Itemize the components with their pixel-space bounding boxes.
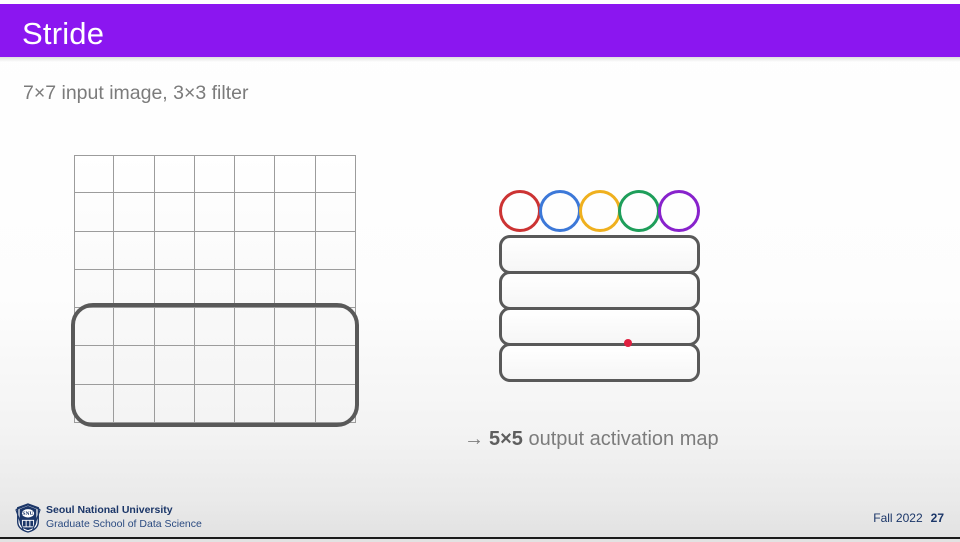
footer-university-name: Seoul National University (46, 503, 202, 517)
grid-cell (74, 346, 114, 384)
slide-footer: SNU Seoul National University Graduate S… (0, 498, 960, 542)
grid-cell (195, 270, 235, 308)
activation-ring-row (499, 190, 700, 236)
activation-ring (658, 190, 700, 232)
grid-cell (235, 346, 275, 384)
activation-ring (579, 190, 621, 232)
footer-term: Fall 2022 (873, 511, 922, 525)
grid-cell (195, 385, 235, 423)
grid-cell (316, 193, 356, 231)
grid-cell (195, 346, 235, 384)
grid-cell (316, 385, 356, 423)
grid-cell (74, 155, 114, 193)
grid-cell (195, 308, 235, 346)
grid-cell (235, 155, 275, 193)
page-title: Stride (22, 15, 104, 53)
grid-cell (235, 232, 275, 270)
grid-cell (275, 308, 315, 346)
grid-cell (74, 308, 114, 346)
footer-page-number: 27 (931, 511, 944, 525)
grid-cell (155, 385, 195, 423)
grid-cell (114, 232, 154, 270)
grid-cell (316, 270, 356, 308)
grid-cell (275, 346, 315, 384)
output-row-1 (499, 235, 700, 274)
slide-title-bar: Stride (0, 4, 960, 57)
grid-cell (114, 308, 154, 346)
output-row-2 (499, 271, 700, 310)
footer-department-name: Graduate School of Data Science (46, 517, 202, 531)
grid-cell (195, 193, 235, 231)
grid-cell (275, 155, 315, 193)
subtitle-text: 7×7 input image, 3×3 filter (23, 80, 248, 106)
grid-cell (235, 385, 275, 423)
grid-cell (155, 346, 195, 384)
snu-crest-icon: SNU (14, 503, 42, 533)
cursor-dot-icon (624, 339, 632, 347)
footer-divider (0, 537, 960, 539)
grid-cell (114, 346, 154, 384)
grid-cell (155, 308, 195, 346)
grid-cell (275, 232, 315, 270)
grid-cell (275, 193, 315, 231)
grid-cell (74, 193, 114, 231)
grid-cell (316, 155, 356, 193)
activation-ring (618, 190, 660, 232)
grid-cell (195, 155, 235, 193)
grid-cell (74, 232, 114, 270)
grid-cell (195, 232, 235, 270)
grid-cell (235, 193, 275, 231)
grid-cell (114, 385, 154, 423)
output-dimensions: 5×5 (489, 428, 523, 450)
grid-cell (155, 193, 195, 231)
footer-institution: Seoul National University Graduate Schoo… (46, 503, 202, 531)
output-row-4 (499, 343, 700, 382)
grid-cell (74, 385, 114, 423)
grid-cell (235, 270, 275, 308)
svg-text:SNU: SNU (22, 511, 33, 517)
input-image-grid (74, 155, 356, 423)
grid-cell (316, 308, 356, 346)
grid-cell (275, 270, 315, 308)
grid-cell (316, 232, 356, 270)
slide: Stride 7×7 input image, 3×3 filter →5×5 … (0, 0, 960, 542)
input-image-figure (74, 155, 356, 423)
arrow-right-icon: → (464, 428, 484, 450)
grid-cell (275, 385, 315, 423)
grid-cell (316, 346, 356, 384)
output-caption-text: output activation map (523, 428, 719, 450)
grid-cell (235, 308, 275, 346)
activation-ring (499, 190, 541, 232)
grid-cell (114, 193, 154, 231)
grid-cell (155, 232, 195, 270)
activation-ring (539, 190, 581, 232)
output-caption: →5×5 output activation map (464, 425, 719, 453)
output-activation-stack (499, 235, 700, 382)
grid-cell (114, 155, 154, 193)
grid-cell (155, 270, 195, 308)
grid-cell (155, 155, 195, 193)
footer-meta: Fall 202227 (873, 510, 944, 526)
grid-cell (74, 270, 114, 308)
grid-cell (114, 270, 154, 308)
output-row-3 (499, 307, 700, 346)
